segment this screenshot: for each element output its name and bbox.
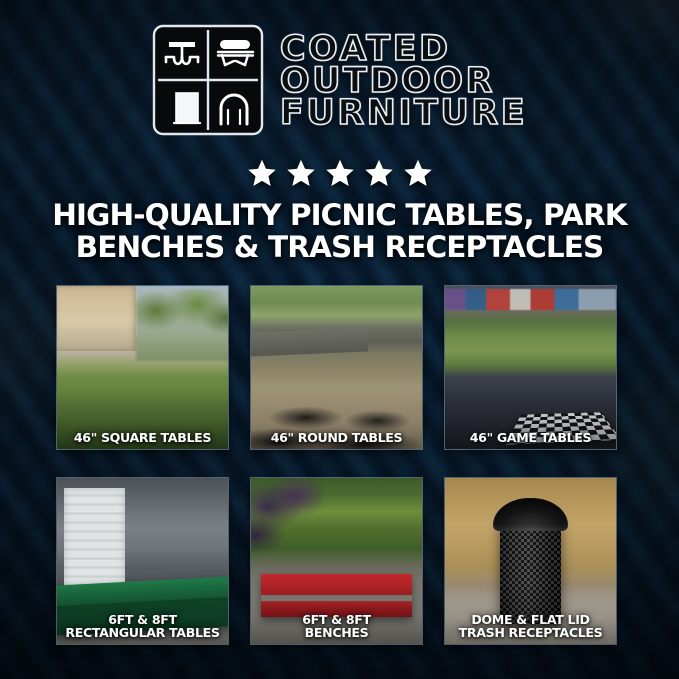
- furniture-quad-icon: [152, 24, 264, 136]
- product-photo-game-tables: [445, 286, 616, 449]
- product-tile-trash-receptacles[interactable]: DOME & FLAT LID TRASH RECEPTACLES: [444, 477, 617, 645]
- star-icon: [247, 158, 277, 188]
- caption-line-2: TRASH RECEPTACLES: [447, 626, 614, 639]
- brand-logo: COATED OUTDOOR FURNITURE: [0, 24, 679, 136]
- headline-line-1: HIGH-QUALITY PICNIC TABLES, PARK: [52, 198, 626, 232]
- product-grid: 46" SQUARE TABLES 46" ROUND TABLES 46" G…: [56, 285, 624, 645]
- product-caption: 6FT & 8FT BENCHES: [253, 613, 420, 639]
- wordmark-line-3: FURNITURE: [280, 97, 527, 129]
- caption-line-2: BENCHES: [253, 626, 420, 639]
- caption-line-1: 46" ROUND TABLES: [271, 430, 403, 445]
- caption-line-2: RECTANGULAR TABLES: [59, 626, 226, 639]
- brand-wordmark: COATED OUTDOOR FURNITURE: [280, 31, 527, 130]
- product-caption: 46" SQUARE TABLES: [59, 431, 226, 444]
- caption-line-1: 46" GAME TABLES: [470, 430, 591, 445]
- trash-receptacle-icon: [174, 93, 200, 123]
- star-icon: [325, 158, 355, 188]
- product-tile-square-tables[interactable]: 46" SQUARE TABLES: [56, 285, 229, 450]
- product-photo-square-tables: [57, 286, 228, 449]
- product-caption: 6FT & 8FT RECTANGULAR TABLES: [59, 613, 226, 639]
- product-tile-benches[interactable]: 6FT & 8FT BENCHES: [250, 477, 423, 645]
- headline: HIGH-QUALITY PICNIC TABLES, PARK BENCHES…: [22, 200, 657, 264]
- promo-banner: COATED OUTDOOR FURNITURE HIGH-QUALITY PI…: [0, 0, 679, 679]
- caption-line-1: 46" SQUARE TABLES: [74, 430, 211, 445]
- product-caption: DOME & FLAT LID TRASH RECEPTACLES: [447, 613, 614, 639]
- star-icon: [286, 158, 316, 188]
- product-caption: 46" GAME TABLES: [447, 431, 614, 444]
- product-caption: 46" ROUND TABLES: [253, 431, 420, 444]
- star-icon: [403, 158, 433, 188]
- product-tile-rectangular-tables[interactable]: 6FT & 8FT RECTANGULAR TABLES: [56, 477, 229, 645]
- star-icon: [364, 158, 394, 188]
- product-tile-game-tables[interactable]: 46" GAME TABLES: [444, 285, 617, 450]
- product-photo-round-tables: [251, 286, 422, 449]
- star-rating: [0, 158, 679, 188]
- trash-lid-opening: [515, 505, 547, 518]
- product-tile-round-tables[interactable]: 46" ROUND TABLES: [250, 285, 423, 450]
- headline-line-2: BENCHES & TRASH RECEPTACLES: [22, 232, 657, 264]
